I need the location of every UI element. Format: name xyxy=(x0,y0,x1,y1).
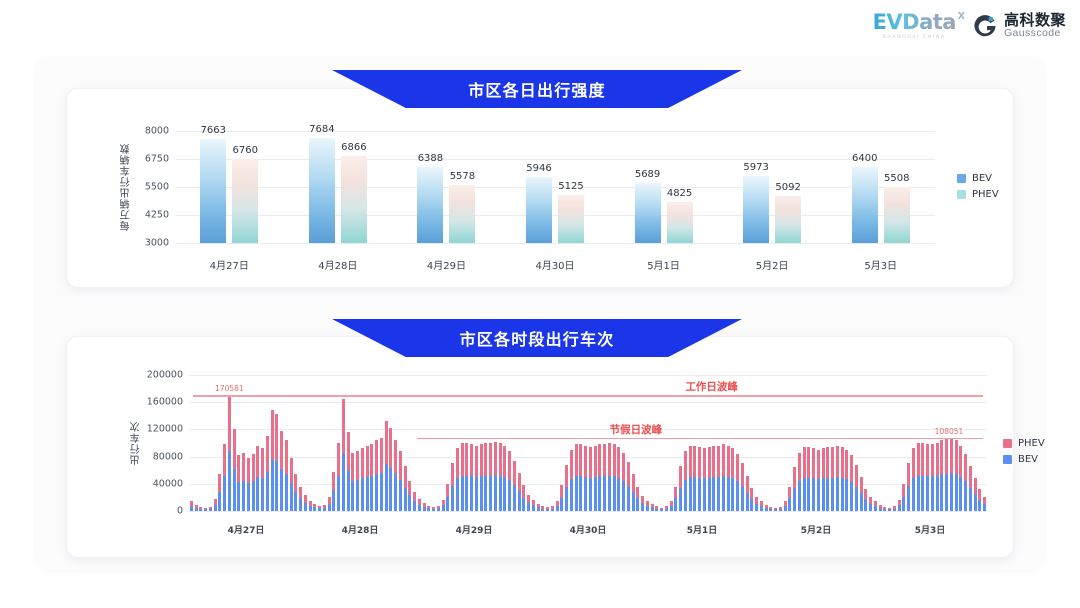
chart2-segment-bev xyxy=(651,507,654,511)
chart2-segment-bev xyxy=(864,499,867,511)
chart2-segment-phev xyxy=(266,436,269,472)
chart2-y-tick: 160000 xyxy=(133,397,183,408)
chart2-segment-bev xyxy=(508,480,511,511)
chart2-stacked-column xyxy=(698,447,701,511)
chart2-stacked-column xyxy=(522,485,525,511)
chart2-stacked-column xyxy=(921,443,924,511)
chart2-stacked-column xyxy=(769,507,772,511)
chart2-segment-bev xyxy=(423,507,426,511)
chart2-segment-phev xyxy=(689,446,692,477)
chart2-segment-bev xyxy=(765,508,768,511)
chart2-title: 市区各时段出行车次 xyxy=(460,326,615,350)
chart2-stacked-column xyxy=(437,506,440,511)
chart2-segment-phev xyxy=(636,487,639,499)
evdata-wordmark: EVData xyxy=(873,12,956,33)
chart2-segment-phev xyxy=(242,453,245,481)
chart2-stacked-column xyxy=(674,487,677,511)
chart2-stacked-column xyxy=(275,414,278,511)
chart2-stacked-column xyxy=(418,499,421,511)
chart2-stacked-column xyxy=(874,501,877,511)
chart2-stacked-column xyxy=(807,447,810,511)
chart2-segment-bev xyxy=(807,478,810,511)
chart2-stacked-column xyxy=(603,444,606,511)
chart2-segment-bev xyxy=(356,480,359,511)
chart2-segment-phev xyxy=(337,443,340,476)
chart2-stacked-column xyxy=(361,448,364,511)
chart2-stacked-column xyxy=(936,443,939,511)
chart2-stacked-column xyxy=(589,447,592,511)
chart2-stacked-column xyxy=(513,461,516,511)
chart2-segment-bev xyxy=(499,476,502,511)
chart2-segment-bev xyxy=(869,504,872,511)
chart2-y-tick: 0 xyxy=(133,506,183,517)
chart2-segment-phev xyxy=(332,472,335,491)
chart1-bar-value: 5973 xyxy=(743,162,768,173)
chart2-segment-phev xyxy=(408,481,411,495)
chart1-bar-bev xyxy=(200,139,226,243)
gausscode-mark-icon xyxy=(972,13,998,39)
chart2-segment-bev xyxy=(275,461,278,511)
chart2-x-tick: 5月1日 xyxy=(687,523,718,536)
chart2-segment-bev xyxy=(641,503,644,511)
chart1-bar-phev xyxy=(558,195,584,243)
chart2-segment-phev xyxy=(831,447,834,478)
chart2-legend-item[interactable]: PHEV xyxy=(1003,438,1045,449)
chart2-stacked-column xyxy=(594,446,597,511)
chart2-segment-phev xyxy=(508,451,511,480)
chart2-segment-bev xyxy=(204,509,207,511)
chart2-segment-phev xyxy=(589,447,592,478)
chart2-segment-phev xyxy=(237,455,240,482)
chart2-stacked-column xyxy=(641,496,644,511)
chart2-segment-phev xyxy=(741,463,744,486)
chart1-legend-label: BEV xyxy=(972,173,992,184)
chart2-segment-phev xyxy=(489,443,492,476)
chart2-stacked-column xyxy=(546,507,549,511)
chart2-segment-phev xyxy=(579,444,582,476)
chart2-segment-bev xyxy=(256,477,259,511)
chart2-segment-phev xyxy=(627,462,630,486)
chart2-segment-phev xyxy=(731,448,734,478)
chart1-x-tick: 4月28日 xyxy=(318,257,357,272)
chart2-stacked-column xyxy=(413,492,416,511)
chart2-stacked-column xyxy=(223,444,226,511)
chart2-stacked-column xyxy=(703,448,706,511)
chart2-x-tick: 4月27日 xyxy=(228,523,265,536)
chart2-segment-bev xyxy=(560,498,563,511)
chart2-stacked-column xyxy=(584,446,587,511)
chart2-stacked-column xyxy=(812,448,815,511)
chart2-stacked-column xyxy=(218,474,221,511)
chart2-stacked-column xyxy=(313,504,316,511)
chart2-segment-bev xyxy=(779,509,782,511)
chart2-segment-phev xyxy=(755,497,758,504)
chart2-segment-bev xyxy=(750,499,753,511)
chart1-bar-phev xyxy=(232,159,258,243)
chart2-segment-phev xyxy=(446,484,449,497)
chart2-segment-phev xyxy=(841,447,844,478)
chart2-segment-phev xyxy=(513,461,516,485)
chart2-segment-phev xyxy=(456,448,459,478)
chart2-segment-bev xyxy=(199,509,202,511)
chart2-stacked-column xyxy=(898,500,901,511)
chart2-segment-phev xyxy=(864,489,867,500)
chart2-stacked-column xyxy=(731,448,734,511)
chart2-legend-item[interactable]: BEV xyxy=(1003,454,1045,465)
chart2-segment-phev xyxy=(480,444,483,476)
chart2-segment-bev xyxy=(537,507,540,511)
chart2-stacked-column xyxy=(879,505,882,511)
chart2-stacked-column xyxy=(494,442,497,511)
chart1-x-tick: 5月2日 xyxy=(756,257,789,272)
chart2-stacked-column xyxy=(665,506,668,511)
chart2-segment-bev xyxy=(921,476,924,511)
chart2-segment-bev xyxy=(570,479,573,511)
chart1-legend-item[interactable]: PHEV xyxy=(957,189,999,200)
chart2-stacked-column xyxy=(855,465,858,511)
chart1-bar-value: 5092 xyxy=(775,182,800,193)
chart2-segment-phev xyxy=(594,446,597,477)
chart2-stacked-column xyxy=(717,446,720,511)
chart2-stacked-column xyxy=(579,444,582,511)
chart2-stacked-column xyxy=(480,444,483,511)
chart2-segment-phev xyxy=(527,495,530,503)
chart2-stacked-column xyxy=(931,444,934,511)
chart2-segment-bev xyxy=(351,481,354,511)
chart2-segment-phev xyxy=(413,492,416,501)
evdata-tagline: SHANGHAI CHINA xyxy=(883,35,946,40)
chart2-segment-phev xyxy=(817,450,820,479)
chart2-stacked-column xyxy=(323,505,326,511)
chart2-segment-bev xyxy=(518,491,521,511)
chart2-segment-phev xyxy=(860,477,863,493)
chart2-segment-phev xyxy=(622,453,625,481)
chart2-stacked-column xyxy=(294,474,297,511)
chart1-bar-bev xyxy=(743,176,769,243)
chart2-segment-bev xyxy=(879,508,882,511)
chart2-segment-bev xyxy=(451,486,454,511)
chart2-segment-bev xyxy=(584,477,587,511)
chart2-segment-phev xyxy=(613,444,616,476)
chart2-stacked-column xyxy=(803,447,806,511)
chart2-stacked-column xyxy=(869,497,872,511)
chart2-segment-bev xyxy=(446,497,449,511)
chart2-segment-phev xyxy=(822,448,825,478)
chart2-segment-bev xyxy=(693,477,696,511)
chart2-segment-phev xyxy=(404,466,407,488)
chart2-segment-phev xyxy=(693,446,696,477)
chart2-segment-bev xyxy=(218,492,221,511)
chart2-stacked-column xyxy=(204,508,207,511)
gausscode-text: 高科数聚 Gausscode xyxy=(1004,13,1066,40)
chart2-gridline xyxy=(189,511,987,512)
chart2-stacked-column xyxy=(427,506,430,511)
chart2-stacked-column xyxy=(209,507,212,511)
chart2-holiday-peak-label: 节假日波峰 xyxy=(610,422,663,437)
chart2-stacked-column xyxy=(822,448,825,511)
chart2-stacked-column xyxy=(328,497,331,511)
chart2-stacked-column xyxy=(408,481,411,511)
chart2-segment-bev xyxy=(385,464,388,511)
chart2-y-tick: 80000 xyxy=(133,451,183,462)
chart2-segment-bev xyxy=(788,498,791,511)
chart2-gridline xyxy=(189,402,987,403)
chart2-segment-bev xyxy=(907,486,910,511)
chart2-segment-phev xyxy=(902,484,905,497)
chart2-segment-bev xyxy=(541,509,544,511)
chart2-segment-phev xyxy=(304,495,307,503)
chart2-segment-phev xyxy=(955,440,958,474)
chart2-stacked-column xyxy=(423,503,426,511)
chart2-stacked-column xyxy=(332,472,335,511)
chart2-segment-bev xyxy=(527,503,530,511)
chart1-gridline xyxy=(175,159,935,160)
chart2-stacked-column xyxy=(627,462,630,511)
chart2-stacked-column xyxy=(280,431,283,511)
chart2-segment-bev xyxy=(342,453,345,511)
chart1-legend-label: PHEV xyxy=(972,189,999,200)
chart2-stacked-column xyxy=(940,440,943,511)
chart2-x-tick: 5月3日 xyxy=(915,523,946,536)
chart2-segment-bev xyxy=(214,505,217,511)
chart2-stacked-column xyxy=(660,508,663,511)
chart2-segment-bev xyxy=(190,506,193,511)
chart2-stacked-column xyxy=(252,454,255,511)
chart2-segment-phev xyxy=(964,454,967,481)
chart2-segment-bev xyxy=(323,508,326,511)
chart2-stacked-column xyxy=(370,444,373,511)
chart1-bar-bev xyxy=(417,167,443,243)
chart2-segment-bev xyxy=(494,475,497,511)
chart2-segment-phev xyxy=(380,438,383,473)
chart2-stacked-column xyxy=(446,484,449,511)
chart2-segment-bev xyxy=(294,492,297,511)
chart2-segment-phev xyxy=(746,476,749,493)
chart2-stacked-column xyxy=(442,500,445,511)
chart2-stacked-column xyxy=(266,436,269,511)
chart2-stacked-column xyxy=(541,506,544,511)
chart2-segment-phev xyxy=(850,455,853,482)
chart2-segment-bev xyxy=(271,459,274,511)
chart2-segment-bev xyxy=(361,478,364,511)
chart2-stacked-column xyxy=(304,495,307,511)
chart2-segment-phev xyxy=(370,444,373,476)
chart2-y-tick: 40000 xyxy=(133,478,183,489)
chart2-stacked-column xyxy=(727,446,730,511)
chart2-segment-bev xyxy=(617,478,620,511)
chart2-segment-bev xyxy=(698,478,701,511)
chart2-segment-phev xyxy=(503,446,506,477)
chart2-stacked-column xyxy=(741,463,744,511)
chart2-segment-bev xyxy=(769,509,772,511)
chart2-segment-bev xyxy=(945,474,948,511)
chart2-segment-phev xyxy=(926,444,929,476)
chart2-segment-bev xyxy=(674,498,677,511)
chart2-stacked-column xyxy=(380,438,383,511)
chart2-stacked-column xyxy=(247,458,250,511)
chart2-y-tick: 200000 xyxy=(133,370,183,381)
chart2-segment-bev xyxy=(247,483,250,511)
chart2-segment-phev xyxy=(793,467,796,488)
chart2-segment-phev xyxy=(674,487,677,499)
chart2-segment-bev xyxy=(627,486,630,511)
chart2-legend-label: BEV xyxy=(1018,454,1038,465)
chart2-segment-phev xyxy=(703,448,706,478)
chart1-bar-value: 6400 xyxy=(852,153,877,164)
chart2-segment-bev xyxy=(522,498,525,511)
chart2-stacked-column xyxy=(527,495,530,511)
chart2-stacked-column xyxy=(826,447,829,511)
chart2-segment-bev xyxy=(655,509,658,511)
chart2-stacked-column xyxy=(841,447,844,511)
chart2-segment-bev xyxy=(370,476,373,511)
chart2-stacked-column xyxy=(356,451,359,511)
chart1-gridline xyxy=(175,243,935,244)
chart1-gridline xyxy=(175,131,935,132)
chart2-stacked-column xyxy=(565,465,568,511)
chart2-segment-bev xyxy=(964,481,967,511)
chart2-segment-bev xyxy=(784,506,787,511)
chart2-segment-bev xyxy=(727,477,730,511)
chart2-segment-bev xyxy=(774,509,777,511)
chart2-gridline xyxy=(189,429,987,430)
chart2-segment-bev xyxy=(893,509,896,511)
chart2-stacked-column xyxy=(366,446,369,511)
chart2-stacked-column xyxy=(622,453,625,511)
chart2-stacked-column xyxy=(860,477,863,511)
chart2-segment-bev xyxy=(855,487,858,511)
chart2-stacked-column xyxy=(613,444,616,511)
chart2-card: 出行车次040000800001200001600002000004月27日4月… xyxy=(66,336,1014,558)
chart2-segment-bev xyxy=(461,476,464,511)
chart2-segment-bev xyxy=(874,506,877,511)
chart2-segment-phev xyxy=(389,428,392,468)
chart2-stacked-column xyxy=(299,487,302,511)
chart2-segment-phev xyxy=(936,443,939,476)
chart2-y-tick: 120000 xyxy=(133,424,183,435)
chart2-segment-bev xyxy=(613,476,616,511)
chart1-card: 每万辆出行车辆数30004250550067508000766367604月27… xyxy=(66,88,1014,288)
chart2-segment-phev xyxy=(617,447,620,478)
chart2-segment-phev xyxy=(223,444,226,476)
chart2-stacked-column xyxy=(784,501,787,511)
chart2-segment-phev xyxy=(907,463,910,486)
chart2-segment-phev xyxy=(603,444,606,476)
chart2-segment-phev xyxy=(285,440,288,474)
chart1-y-tick: 8000 xyxy=(127,126,169,137)
chart2-stacked-column xyxy=(978,489,981,511)
chart2-stacked-column xyxy=(689,446,692,511)
chart1-legend-item[interactable]: BEV xyxy=(957,173,999,184)
chart2-segment-bev xyxy=(313,507,316,511)
chart2-stacked-column xyxy=(570,450,573,511)
chart2-segment-phev xyxy=(788,487,791,499)
chart2-segment-phev xyxy=(679,466,682,488)
chart2-segment-bev xyxy=(755,504,758,511)
chart2-stacked-column xyxy=(883,507,886,511)
chart2-segment-bev xyxy=(731,478,734,511)
chart2-segment-bev xyxy=(950,473,953,511)
chart2-stacked-column xyxy=(817,450,820,511)
chart2-peak-value-108051: 108051 xyxy=(935,427,964,436)
chart2-segment-phev xyxy=(641,496,644,503)
chart2-stacked-column xyxy=(779,507,782,511)
chart2-segment-phev xyxy=(461,443,464,476)
chart2-stacked-column xyxy=(271,410,274,511)
chart2-stacked-column xyxy=(693,446,696,511)
chart2-segment-bev xyxy=(418,505,421,511)
chart2-segment-bev xyxy=(408,495,411,511)
chart2-segment-bev xyxy=(902,497,905,511)
chart2-segment-phev xyxy=(475,446,478,477)
chart2-stacked-column xyxy=(237,455,240,511)
chart2-stacked-column xyxy=(199,507,202,511)
chart2-segment-phev xyxy=(394,440,397,474)
chart2-segment-bev xyxy=(432,509,435,511)
chart1-legend: BEVPHEV xyxy=(957,173,999,200)
chart1-gridline xyxy=(175,187,935,188)
chart1-legend-swatch xyxy=(957,190,966,199)
chart2-stacked-column xyxy=(708,447,711,511)
chart2-stacked-column xyxy=(508,451,511,511)
chart2-segment-phev xyxy=(598,444,601,476)
chart2-stacked-column xyxy=(575,444,578,511)
chart2-stacked-column xyxy=(950,438,953,511)
chart1-bar-value: 5689 xyxy=(635,169,660,180)
chart2-segment-phev xyxy=(261,448,264,478)
chart2-segment-phev xyxy=(575,444,578,476)
chart2-stacked-column xyxy=(518,473,521,511)
evdata-superscript-icon: x xyxy=(958,7,965,22)
chart2-segment-phev xyxy=(565,465,568,487)
chart2-stacked-column xyxy=(465,443,468,511)
chart2-stacked-column xyxy=(598,444,601,511)
chart2-segment-bev xyxy=(845,479,848,511)
chart2-stacked-column xyxy=(798,453,801,511)
chart2-segment-phev xyxy=(978,489,981,499)
chart2-segment-bev xyxy=(503,477,506,511)
chart2-segment-phev xyxy=(299,487,302,499)
chart2-segment-bev xyxy=(266,472,269,511)
chart2-segment-phev xyxy=(366,446,369,477)
chart2-segment-bev xyxy=(532,505,535,511)
chart2-x-tick: 5月2日 xyxy=(801,523,832,536)
chart2-stacked-column xyxy=(375,440,378,511)
chart2-segment-phev xyxy=(750,488,753,499)
chart2-segment-bev xyxy=(233,469,236,511)
chart2-segment-bev xyxy=(556,506,559,511)
chart2-segment-bev xyxy=(280,469,283,511)
chart1-y-tick: 6750 xyxy=(127,154,169,165)
chart2-segment-bev xyxy=(860,493,863,511)
chart2-segment-bev xyxy=(551,509,554,511)
chart1-bar-phev xyxy=(775,196,801,243)
chart2-stacked-column xyxy=(917,443,920,511)
chart2-segment-phev xyxy=(945,439,948,474)
chart2-segment-phev xyxy=(812,448,815,478)
chart2-stacked-column xyxy=(722,444,725,511)
chart2-segment-bev xyxy=(195,508,198,511)
chart2-segment-bev xyxy=(332,490,335,511)
chart2-segment-bev xyxy=(812,478,815,511)
chart2-segment-bev xyxy=(689,477,692,511)
chart1-bar-bev xyxy=(309,138,335,243)
chart1-y-tick: 5500 xyxy=(127,182,169,193)
chart2-segment-bev xyxy=(926,476,929,511)
chart2-segment-bev xyxy=(347,470,350,511)
chart2-segment-bev xyxy=(665,509,668,511)
chart1-bar-value: 7684 xyxy=(309,124,334,135)
